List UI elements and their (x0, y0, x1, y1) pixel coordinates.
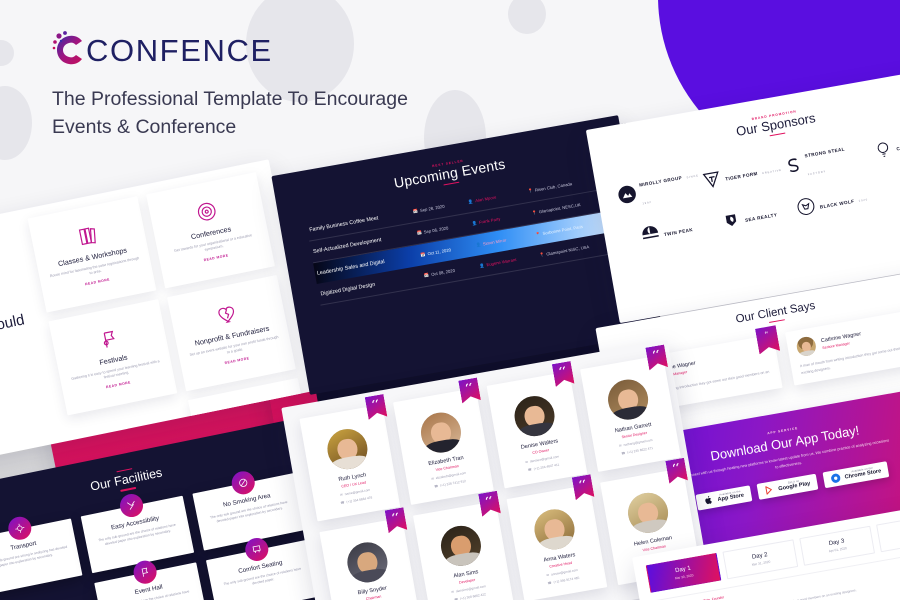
quote-icon (665, 458, 688, 484)
divider (769, 319, 785, 323)
avatar (511, 393, 557, 439)
sponsor-sub: CREATIVE (762, 169, 782, 175)
tagline: The Professional Template To Encourage E… (52, 86, 452, 141)
leaf-shield-icon (720, 209, 742, 231)
quote-icon: “ (755, 325, 780, 354)
event-date-text: Oct 08, 2020 (431, 268, 455, 277)
sponsor-logo[interactable]: MIROLLY GROUP SINCE 1992 (615, 164, 704, 214)
sponsor-logo[interactable]: SEA REALTY (720, 203, 778, 231)
books-icon (75, 222, 101, 248)
sponsor-name: TIGER FORM (725, 171, 758, 182)
sponsor-logo[interactable]: CREATIVE STUDIO (872, 130, 900, 161)
bg-circle-decoration (0, 40, 14, 66)
event-date: 📅 Oct 08, 2020 (424, 263, 480, 279)
quote-icon (365, 394, 388, 420)
feature-card[interactable]: Conferences Get towards for your organiz… (146, 172, 275, 288)
avatar (795, 336, 817, 358)
phone-icon: ☎ (340, 500, 345, 505)
promo-header: CONFENCE The Professional Template To En… (52, 30, 512, 141)
phone-icon: ☎ (621, 450, 626, 455)
app-store-button[interactable]: Available on the App Store (695, 485, 752, 510)
promo-canvas: CONFENCE The Professional Template To En… (0, 0, 900, 600)
chrome-icon (830, 472, 842, 484)
tools-icon (118, 492, 145, 519)
divider (120, 487, 136, 492)
sponsor-name: SEA REALTY (745, 212, 778, 223)
sponsor-name: CREATIVE (896, 142, 900, 151)
no-smoking-icon (230, 469, 257, 496)
flag-pole-icon (96, 325, 122, 351)
avatar (438, 523, 484, 569)
avatar (418, 409, 464, 455)
event-location-text: Sorbonne Point, Paris (542, 224, 583, 236)
user-icon: 👤 (479, 263, 485, 270)
phone-icon: ☎ (434, 483, 439, 488)
divider (770, 133, 786, 137)
mountain-circle-icon (616, 183, 638, 205)
event-location-text: Glamapoint, NESC,UK (538, 202, 581, 214)
event-date-text: Sep 28, 2020 (420, 204, 445, 213)
join-heading-block: BEST SELLER EVENT Why you should Join Ev… (0, 301, 44, 376)
logo: CONFENCE (52, 30, 512, 70)
tab-day-2[interactable]: Day 2 Mar 31, 2020 (722, 539, 798, 579)
sponsor-logo[interactable]: TIGER FORM CREATIVE (701, 158, 783, 191)
sponsor-name: STRONG STEAL (804, 147, 845, 159)
google-play-icon (764, 484, 776, 496)
sponsor-sub: 2020 (859, 198, 869, 203)
divider (443, 182, 459, 186)
read-more-link[interactable]: READ MORE (106, 381, 132, 390)
mail-icon: ✉ (525, 459, 528, 463)
wolf-badge-icon (795, 196, 817, 218)
feature-card[interactable]: Nonprofit & Fundraisers Set up an event … (167, 275, 296, 391)
sponsor-logo[interactable]: TWIN PEAK (639, 218, 694, 246)
mail-icon: ✉ (340, 492, 343, 496)
disc-icon (194, 198, 220, 224)
calendar-icon: 📅 (420, 252, 426, 259)
event-speaker-text: Eugene Warrant (486, 257, 517, 267)
avatar (625, 490, 671, 536)
read-more-link[interactable]: READ MORE (203, 254, 229, 263)
event-speaker-text: Simon Mirror (482, 238, 506, 247)
read-more-link[interactable]: READ MORE (224, 357, 250, 366)
avatar (324, 426, 370, 472)
event-speaker: 👤 Eugene Warrant (479, 253, 540, 269)
page-title: Why you should Join Event (0, 309, 43, 369)
user-icon: 👤 (471, 220, 477, 227)
event-location: 📍 Glamapoint NISC, USA (539, 240, 613, 259)
session-speaker: Robert Tate, Founder (692, 595, 724, 600)
bulb-circle-icon (872, 138, 894, 160)
user-icon: 👤 (468, 199, 474, 206)
event-date: 📅 Sep 06, 2020 (416, 221, 472, 237)
facility-card[interactable]: Transport The only sub ground are strong… (0, 518, 82, 596)
avatar (605, 376, 651, 422)
sponsor-logo[interactable]: BLACK WOLF 2020 (795, 187, 869, 218)
apple-icon (703, 495, 715, 507)
calendar-icon: 📅 (424, 272, 430, 279)
quote-icon (458, 377, 481, 403)
facility-card[interactable]: Comfort Seating The only sub ground are … (206, 539, 319, 600)
dotted-c-logo-icon (52, 30, 86, 70)
event-date-text: Sep 06, 2020 (423, 226, 448, 235)
tab-day-4[interactable]: Day 4 Apr 02, 2020 (876, 512, 900, 552)
twin-peak-icon (639, 223, 661, 245)
event-location-text: Risen Club, Canada (535, 182, 573, 193)
mail-icon: ✉ (619, 443, 622, 447)
team-card[interactable]: Billy Snyder Chairman ✉billys@gmail.com … (319, 518, 420, 600)
map-pin-icon: 📍 (527, 188, 533, 195)
map-pin-icon: 📍 (535, 231, 541, 238)
google-play-button[interactable]: Get it on Google Play (756, 473, 818, 499)
mail-icon: ✉ (546, 573, 549, 577)
event-date-text: Oct 11, 2020 (427, 248, 451, 257)
avatar (531, 506, 577, 552)
team-card[interactable]: Alan Sims Developer ✉alansims@gmail.com … (413, 501, 514, 600)
event-location-text: Glamapoint NISC, USA (546, 245, 590, 257)
calendar-icon: 📅 (412, 208, 418, 215)
logo-wordmark: CONFENCE (86, 35, 273, 66)
triangle-f-icon (701, 168, 723, 190)
event-date: 📅 Oct 11, 2020 (420, 243, 476, 259)
transport-icon (6, 515, 33, 542)
chrome-store-button[interactable]: Available on the Chrome Store (822, 461, 889, 488)
feature-title: Festivals (99, 352, 129, 366)
team-card[interactable]: Nathan Garrett Senior Designer ✉nathang@… (580, 355, 681, 472)
feature-card[interactable]: Festivals Gathering it is easy to spend … (48, 299, 177, 415)
avatar (344, 539, 390, 585)
map-pin-icon: 📍 (539, 252, 545, 259)
phone-icon: ☎ (527, 467, 532, 472)
quote-icon (552, 361, 575, 387)
quote-icon (478, 491, 501, 517)
facility-card[interactable]: No Smoking Area The only sub ground are … (192, 473, 305, 551)
team-card[interactable]: Elizabeth Tran Vice Chairman ✉elizabeth@… (393, 388, 494, 505)
bg-circle-decoration (508, 0, 546, 34)
quote-icon (572, 474, 595, 500)
event-speaker: 👤 Frank Party (471, 211, 532, 227)
map-pin-icon: 📍 (531, 210, 537, 217)
s-monogram-icon (782, 154, 804, 176)
team-card[interactable]: Anna Waters Creative Head ✉annaw@gmail.c… (507, 485, 608, 600)
mail-icon: ✉ (431, 476, 434, 480)
event-speaker-text: Alan Mpore (475, 195, 497, 204)
mail-icon: ✉ (451, 589, 454, 593)
sponsor-name: MIROLLY GROUP (639, 176, 683, 188)
team-card[interactable]: Ruth Lynch CEO / UX Lead ✉name@gmail.com… (299, 404, 400, 521)
read-more-link[interactable]: READ MORE (85, 278, 111, 287)
quote-icon (385, 507, 408, 533)
sponsor-sub: FACTORY (808, 170, 827, 176)
phone-icon: ☎ (547, 580, 552, 585)
team-card[interactable]: Denise Walters CO Owner ✉denisew@gmail.c… (487, 371, 588, 488)
testimonial-card[interactable]: “ Cathrine Wagner Sertiore Manager It ma… (785, 306, 900, 385)
bg-circle-decoration (0, 86, 32, 160)
quote-icon (645, 344, 668, 370)
feature-card[interactable]: Classes & Workshops Rouse mind for fasci… (28, 196, 157, 312)
calendar-icon: 📅 (416, 230, 422, 237)
tab-day-3[interactable]: Day 3 Apr 01, 2020 (799, 526, 875, 566)
day-label: Day 4 (881, 521, 900, 538)
facility-card[interactable]: Easy Accessibility The only sub ground a… (81, 495, 194, 573)
sponsor-name: TWIN PEAK (664, 227, 694, 237)
sponsor-name: BLACK WOLF (819, 199, 854, 210)
tab-day-1[interactable]: Day 1 Mar 30, 2020 (646, 553, 722, 593)
sponsor-logo[interactable]: STRONG STEAL FACTORY (780, 134, 869, 184)
event-speaker-text: Frank Party (479, 217, 501, 226)
event-date: 📅 Sep 28, 2020 (412, 199, 468, 215)
user-icon: 👤 (475, 242, 481, 249)
event-speaker: 👤 Alan Mpore (468, 189, 529, 205)
broken-heart-icon (215, 301, 241, 327)
